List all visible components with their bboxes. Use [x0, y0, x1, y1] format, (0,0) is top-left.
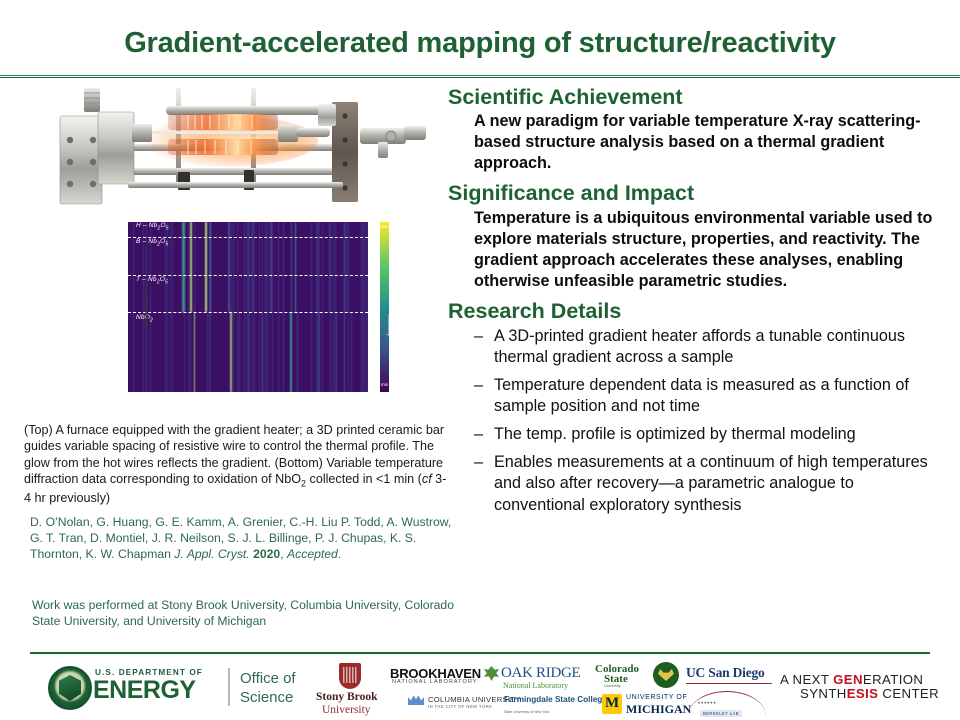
figure-caption: (Top) A furnace equipped with the gradie… [24, 422, 452, 507]
phase-boundary-line [128, 312, 368, 313]
diffraction-peak [311, 222, 312, 392]
diffraction-peak [254, 222, 255, 392]
diffraction-peak [207, 222, 208, 392]
farmingdale-subtitle: State University of New York [504, 710, 549, 714]
diffraction-peak [346, 222, 347, 312]
acknowledgement-text: Work was performed at Stony Brook Univer… [32, 597, 456, 630]
diffraction-peak [172, 222, 173, 392]
bullet-dash: – [474, 452, 483, 473]
diffraction-peak [170, 222, 171, 392]
diffraction-peak [248, 222, 249, 392]
oak-ridge-subtitle: National Laboratory [503, 681, 568, 690]
diffraction-peak [330, 222, 331, 392]
caption-bottom-b: collected in <1 min ( [306, 472, 422, 486]
nsc-line2: SYNTHESIS CENTER [800, 686, 939, 701]
diffraction-peak [259, 222, 260, 392]
stony-brook-line2: University [322, 704, 371, 716]
citation: D. O’Nolan, G. Huang, G. E. Kamm, A. Gre… [30, 514, 454, 563]
office-of-science-line2: Science [240, 689, 293, 706]
diffraction-peak [262, 222, 263, 392]
section-heading-scientific-achievement: Scientific Achievement [448, 84, 948, 110]
ucsd-underline [686, 683, 772, 684]
diffraction-peak [244, 222, 245, 392]
columbia-crown-icon [408, 694, 424, 705]
research-detail-text: The temp. profile is optimized by therma… [494, 425, 856, 443]
diffraction-peak [239, 312, 240, 392]
diffraction-peak [316, 222, 317, 392]
bullet-dash: – [474, 326, 483, 347]
doe-energy-wordmark: ENERGY [93, 676, 196, 705]
phase-region-label: H – Nb2O5 [136, 222, 169, 231]
colorado-state-line3: University [604, 684, 621, 688]
slide-root: Gradient-accelerated mapping of structur… [0, 0, 960, 720]
right-column: Scientific Achievement A new paradigm fo… [448, 84, 948, 523]
section-heading-significance-and-impact: Significance and Impact [448, 180, 948, 206]
section-heading-research-details: Research Details [448, 298, 948, 324]
diffraction-peak [367, 222, 368, 392]
citation-year: 2020 [253, 547, 280, 561]
diffraction-peak [267, 222, 268, 392]
brookhaven-subtitle: NATIONAL LABORATORY [392, 679, 478, 685]
diffraction-peak [283, 222, 284, 392]
michigan-line1: UNIVERSITY OF [626, 694, 687, 701]
bullet-dash: – [474, 424, 483, 445]
bullet-dash: – [474, 375, 483, 396]
furnace-photo [48, 84, 438, 212]
section-body-scientific-achievement: A new paradigm for variable temperature … [448, 111, 948, 174]
header-divider [0, 75, 960, 78]
farmingdale-wordmark: Farmingdale State College [504, 695, 607, 704]
diffraction-peak [361, 222, 362, 392]
diffraction-peak [297, 312, 298, 392]
diffraction-peak [237, 222, 238, 392]
diffraction-peak [233, 222, 234, 392]
stony-brook-line1: Stony Brook [316, 691, 377, 703]
colorbar [380, 222, 389, 392]
diffraction-peak [184, 222, 185, 392]
diffraction-peak [252, 222, 253, 392]
research-detail-text: A 3D-printed gradient heater affords a t… [494, 327, 905, 366]
heatmap-y-axis-label: Temperature / °C [143, 282, 150, 331]
diffraction-peak [133, 222, 134, 392]
section-body-significance-and-impact: Temperature is a ubiquitous environmenta… [448, 208, 948, 292]
diffraction-peak [365, 222, 366, 392]
diffraction-peak [348, 222, 349, 392]
colorbar-max-label: max [380, 224, 389, 229]
doe-divider [228, 668, 230, 706]
diffraction-peak [194, 222, 195, 392]
diffraction-heatmap-figure: H – Nb2O5B – Nb2O5T – Nb2O5NbO2 20030040… [58, 216, 426, 412]
diffraction-peak [295, 222, 296, 312]
berkeley-lab-tag: BERKELEY LAB [700, 710, 742, 717]
diffraction-peak [249, 222, 250, 392]
colorado-state-ram-icon [653, 662, 679, 688]
colorbar-min-label: min [380, 382, 389, 387]
research-detail-text: Temperature dependent data is measured a… [494, 376, 909, 415]
diffraction-peak [190, 222, 191, 392]
diffraction-peak [210, 222, 211, 392]
diffraction-peak [335, 222, 336, 392]
oak-ridge-wordmark: OAK RIDGE [501, 665, 580, 682]
research-detail-item: –The temp. profile is optimized by therm… [448, 424, 948, 445]
nsc-line1: A NEXT GENERATION [780, 672, 923, 687]
diffraction-peak [272, 222, 273, 392]
page-title: Gradient-accelerated mapping of structur… [124, 27, 836, 60]
footer-divider [30, 652, 930, 654]
stony-brook-shield-icon [339, 663, 361, 689]
diffraction-peak [231, 222, 232, 392]
columbia-subtitle: IN THE CITY OF NEW YORK [428, 704, 492, 709]
left-column: H – Nb2O5B – Nb2O5T – Nb2O5NbO2 20030040… [18, 84, 448, 644]
research-detail-text: Enables measurements at a continuum of h… [494, 453, 928, 513]
sponsor-logo-bar: U.S. DEPARTMENT OF ENERGY Office of Scie… [0, 658, 960, 720]
diffraction-peak [188, 222, 189, 392]
citation-status: Accepted [287, 547, 338, 561]
diffraction-peak [290, 312, 292, 392]
michigan-block-m-icon [602, 694, 622, 714]
research-detail-item: –Enables measurements at a continuum of … [448, 452, 948, 515]
diffraction-peak [318, 222, 319, 392]
colorbar-title: Intensity [386, 314, 392, 336]
oak-ridge-leaf-icon [484, 666, 499, 681]
title-bar: Gradient-accelerated mapping of structur… [0, 18, 960, 68]
diffraction-peak [278, 222, 279, 392]
research-detail-item: –Temperature dependent data is measured … [448, 375, 948, 417]
furnace-photo-image [48, 84, 438, 212]
diffraction-peak [336, 312, 337, 392]
diffraction-peak [344, 222, 345, 392]
phase-region-label: B – Nb2O5 [136, 238, 168, 247]
diffraction-peak [228, 222, 229, 312]
research-details-list: –A 3D-printed gradient heater affords a … [448, 326, 948, 516]
diffraction-peak [351, 312, 352, 392]
citation-journal: J. Appl. Cryst. [174, 547, 249, 561]
diffraction-peak [322, 222, 323, 392]
office-of-science-line1: Office of [240, 670, 296, 687]
ucsd-wordmark: UC San Diego [686, 665, 765, 681]
phase-region-label: T – Nb2O5 [136, 276, 168, 285]
diffraction-peak [333, 222, 334, 392]
caption-cf: cf [422, 472, 432, 486]
michigan-line2: MICHIGAN [626, 702, 691, 717]
heatmap-plot-area: H – Nb2O5B – Nb2O5T – Nb2O5NbO2 20030040… [128, 222, 368, 392]
diffraction-peak [291, 222, 292, 312]
doe-seal-icon [48, 666, 92, 710]
research-detail-item: –A 3D-printed gradient heater affords a … [448, 326, 948, 368]
berkeley-lab-dots-icon: •••••• [698, 701, 717, 707]
diffraction-peak [265, 222, 266, 392]
